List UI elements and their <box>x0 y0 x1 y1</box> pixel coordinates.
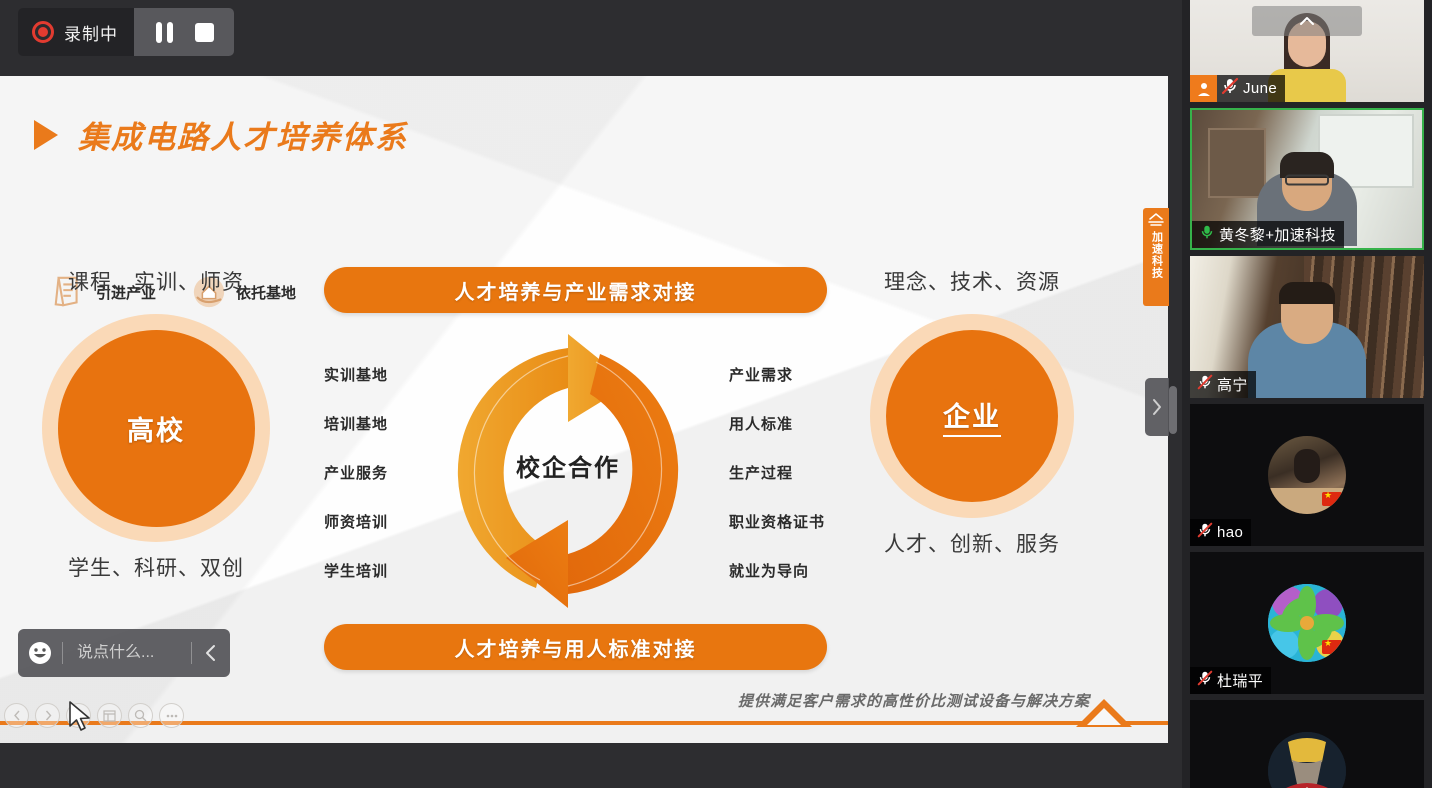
keyword-item: 生产过程 <box>729 462 825 483</box>
participant-tile[interactable]: hao <box>1190 404 1424 546</box>
avatar <box>1268 436 1346 514</box>
stop-recording-button[interactable] <box>188 16 220 48</box>
recording-controls <box>134 8 234 56</box>
scroll-up-button[interactable] <box>1252 6 1362 36</box>
participant-tile[interactable]: 黄冬黎+加速科技 <box>1190 108 1424 250</box>
host-icon <box>1190 75 1217 102</box>
keyword-item: 学生培训 <box>324 560 388 581</box>
avatar <box>1268 584 1346 662</box>
stage-scrollbar[interactable] <box>1169 386 1177 434</box>
keyword-item: 职业资格证书 <box>729 511 825 532</box>
slide-tagline: 提供满足客户需求的高性价比测试设备与解决方案 <box>738 690 1090 711</box>
shared-screen-stage: 录制中 集成电路人才培养体系 <box>0 0 1168 788</box>
mic-muted-icon <box>1190 668 1214 693</box>
enterprise-top-caption: 理念、技术、资源 <box>832 266 1112 296</box>
participant-name: hao <box>1217 524 1243 541</box>
recording-label: 录制中 <box>64 20 118 45</box>
participant-tile[interactable]: June <box>1190 0 1424 102</box>
keywords-right: 产业需求 用人标准 生产过程 职业资格证书 就业为导向 <box>729 364 825 581</box>
participant-name: June <box>1243 80 1277 97</box>
cycle-center-label: 校企合作 <box>418 448 718 483</box>
record-dot-icon <box>32 21 54 43</box>
keyword-item: 用人标准 <box>729 413 825 434</box>
chevron-up-icon <box>1299 16 1315 26</box>
pause-icon <box>156 22 173 43</box>
university-column: 课程、实训、师资 高校 学生、科研、双创 <box>16 266 296 582</box>
pause-recording-button[interactable] <box>148 16 180 48</box>
pill-talent-industry: 人才培养与产业需求对接 <box>324 267 827 313</box>
keyword-item: 就业为导向 <box>729 560 825 581</box>
chat-input-bar <box>18 629 230 677</box>
enterprise-circle-label: 企业 <box>943 395 1001 437</box>
enterprise-column: 理念、技术、资源 企业 人才、创新、服务 <box>832 266 1112 558</box>
ppt-controls-toolbar <box>4 703 184 728</box>
participant-name: 高宁 <box>1217 374 1248 395</box>
keyword-item: 师资培训 <box>324 511 388 532</box>
cooperation-cycle-diagram: 校企合作 <box>418 326 718 616</box>
mic-muted-icon <box>1220 76 1240 101</box>
next-slide-button[interactable] <box>35 703 60 728</box>
triangle-bullet-icon <box>34 120 58 150</box>
smiley-icon[interactable] <box>18 640 62 666</box>
brand-mark-icon <box>1147 213 1165 228</box>
stop-icon <box>195 23 214 42</box>
participant-tile[interactable] <box>1190 700 1424 788</box>
slide-title-row: 集成电路人才培养体系 <box>34 112 408 157</box>
recording-toolbar: 录制中 <box>18 8 234 56</box>
zoom-button[interactable] <box>128 703 153 728</box>
chat-input[interactable] <box>63 644 191 662</box>
meeting-screen: 录制中 集成电路人才培养体系 <box>0 0 1432 788</box>
participant-name-chip: June <box>1190 75 1285 102</box>
university-circle-label: 高校 <box>127 409 185 448</box>
participant-name-chip: 高宁 <box>1190 371 1256 398</box>
keywords-left: 实训基地 培训基地 产业服务 师资培训 学生培训 <box>324 364 388 581</box>
flag-badge-icon <box>1322 640 1342 654</box>
chevron-left-icon[interactable] <box>192 644 230 662</box>
mic-muted-icon <box>1190 520 1214 545</box>
participant-tile[interactable]: 杜瑞平 <box>1190 552 1424 694</box>
participant-rail[interactable]: June 黄冬黎+加速科技 <box>1182 0 1432 788</box>
brand-tab[interactable]: 加速科技 <box>1143 208 1169 306</box>
university-bottom-caption: 学生、科研、双创 <box>16 552 296 582</box>
ironman-avatar-icon <box>1268 732 1346 788</box>
avatar-wrap <box>1190 700 1424 788</box>
slide-grid-button[interactable] <box>97 703 122 728</box>
enterprise-ring: 企业 <box>870 314 1074 518</box>
panel-expand-button[interactable] <box>1145 378 1169 436</box>
prev-slide-button[interactable] <box>4 703 29 728</box>
slide-title: 集成电路人才培养体系 <box>78 112 408 157</box>
enterprise-bottom-caption: 人才、创新、服务 <box>832 528 1112 558</box>
annotate-button[interactable] <box>66 703 91 728</box>
university-circle: 高校 <box>58 330 255 527</box>
participant-tile[interactable]: 高宁 <box>1190 256 1424 398</box>
participant-name-chip: hao <box>1190 519 1251 546</box>
more-options-button[interactable] <box>159 703 184 728</box>
avatar <box>1268 732 1346 788</box>
participant-name-chip: 杜瑞平 <box>1190 667 1271 694</box>
chevron-right-icon <box>1151 398 1163 416</box>
keyword-item: 实训基地 <box>324 364 388 385</box>
keyword-item: 产业需求 <box>729 364 825 385</box>
slide-footer-mark-icon <box>1076 699 1132 727</box>
mic-muted-icon <box>1190 372 1214 397</box>
university-top-caption: 课程、实训、师资 <box>16 266 296 296</box>
participant-name: 黄冬黎+加速科技 <box>1219 224 1336 245</box>
pill-talent-standard: 人才培养与用人标准对接 <box>324 624 827 670</box>
university-ring: 高校 <box>42 314 270 542</box>
flag-badge-icon <box>1322 492 1342 506</box>
mic-active-icon <box>1192 222 1216 247</box>
recording-status: 录制中 <box>18 8 134 56</box>
enterprise-circle: 企业 <box>886 330 1058 502</box>
brand-tab-label: 加速科技 <box>1151 231 1162 279</box>
participant-name: 杜瑞平 <box>1217 670 1263 691</box>
keyword-item: 产业服务 <box>324 462 388 483</box>
participant-name-chip: 黄冬黎+加速科技 <box>1192 221 1344 248</box>
keyword-item: 培训基地 <box>324 413 388 434</box>
